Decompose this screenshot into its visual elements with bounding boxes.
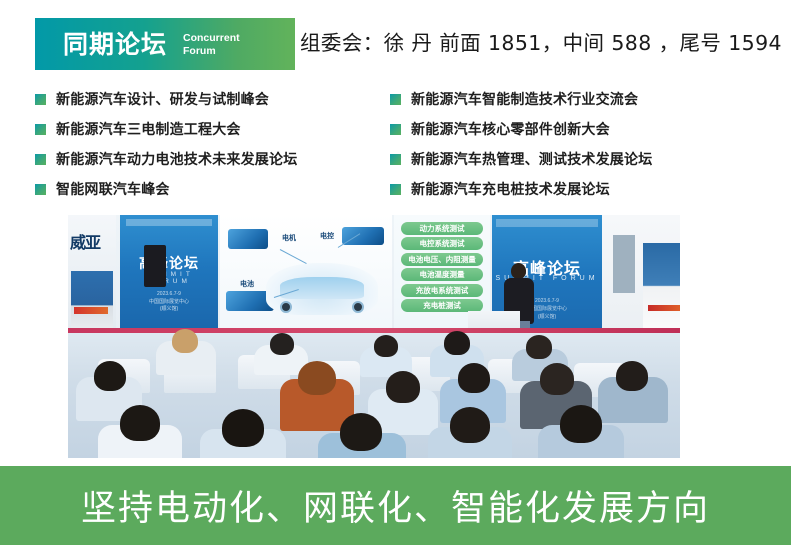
forum-label: 新能源汽车充电桩技术发展论坛 bbox=[411, 179, 610, 199]
controller-part-icon bbox=[342, 227, 384, 245]
diagram-label-battery: 电池 bbox=[240, 279, 254, 289]
badge-title-cn: 同期论坛 bbox=[63, 32, 167, 57]
wheel-icon bbox=[352, 301, 364, 313]
slogan-banner: 坚持电动化、网联化、智能化发展方向 bbox=[0, 466, 791, 545]
list-item: 新能源汽车动力电池技术未来发展论坛 bbox=[35, 144, 385, 174]
attendee-head bbox=[94, 361, 126, 391]
forum-label: 智能网联汽车峰会 bbox=[56, 179, 170, 199]
attendee-head bbox=[386, 371, 420, 403]
list-item: 新能源汽车核心零部件创新大会 bbox=[390, 114, 750, 144]
test-item-pill: 动力系统测试 bbox=[401, 222, 483, 235]
banner-top-strip bbox=[496, 219, 598, 227]
conference-photo: 威亚 高峰论坛 SUMMIT FORUM 2023.6.7-9 中国国际展览中心… bbox=[68, 215, 680, 458]
square-bullet-icon bbox=[390, 154, 401, 165]
attendee-head bbox=[444, 331, 470, 355]
test-item-pill: 电池电压、内阻测量 bbox=[401, 253, 483, 266]
photo-door bbox=[613, 235, 635, 293]
photo-banner-left: 高峰论坛 SUMMIT FORUM 2023.6.7-9 中国国际展览中心 (顺… bbox=[120, 215, 218, 333]
forum-label: 新能源汽车核心零部件创新大会 bbox=[411, 119, 610, 139]
leader-line bbox=[280, 249, 307, 264]
motor-part-icon bbox=[228, 229, 268, 249]
list-item: 新能源汽车充电桩技术发展论坛 bbox=[390, 174, 750, 204]
square-bullet-icon bbox=[35, 94, 46, 105]
diagram-label-motor: 电机 bbox=[282, 233, 296, 243]
photo-ev-diagram-board: 电机 电控 电池 bbox=[220, 215, 392, 333]
photo-speaker-cabinet bbox=[144, 245, 166, 287]
list-item: 新能源汽车三电制造工程大会 bbox=[35, 114, 385, 144]
attendee-head bbox=[450, 407, 490, 443]
list-item: 新能源汽车设计、研发与试制峰会 bbox=[35, 84, 385, 114]
attendee-head bbox=[526, 335, 552, 359]
attendee-head bbox=[298, 361, 336, 395]
attendee-head bbox=[616, 361, 648, 391]
ev-car-illustration bbox=[266, 263, 378, 315]
forum-label: 新能源汽车热管理、测试技术发展论坛 bbox=[411, 149, 652, 169]
slide-root: 同期论坛 Concurrent Forum 组委会：徐 丹 前面 1851，中间… bbox=[0, 0, 791, 545]
concurrent-forum-badge: 同期论坛 Concurrent Forum bbox=[35, 18, 295, 70]
banner-top-strip bbox=[126, 219, 212, 226]
committee-contact-note: 组委会：徐 丹 前面 1851，中间 588 ，尾号 1594 bbox=[300, 26, 782, 56]
attendee-head bbox=[340, 413, 382, 451]
forum-label: 新能源汽车动力电池技术未来发展论坛 bbox=[56, 149, 297, 169]
badge-title-en: Concurrent Forum bbox=[183, 32, 240, 58]
booth-poster-icon bbox=[71, 271, 113, 333]
test-item-pill: 电池温度测量 bbox=[401, 268, 483, 281]
square-bullet-icon bbox=[35, 124, 46, 135]
attendee-head bbox=[540, 363, 574, 395]
square-bullet-icon bbox=[35, 154, 46, 165]
attendee-head bbox=[120, 405, 160, 441]
wheel-icon bbox=[280, 301, 292, 313]
test-item-pill: 电控系统测试 bbox=[401, 237, 483, 250]
attendee-head bbox=[222, 409, 264, 447]
attendee-head bbox=[270, 333, 294, 355]
banner-left-title: 高峰论坛 bbox=[120, 253, 218, 273]
list-item: 新能源汽车热管理、测试技术发展论坛 bbox=[390, 144, 750, 174]
square-bullet-icon bbox=[390, 184, 401, 195]
forum-column-left: 新能源汽车设计、研发与试制峰会 新能源汽车三电制造工程大会 新能源汽车动力电池技… bbox=[35, 84, 385, 204]
banner-left-subtitle: SUMMIT FORUM bbox=[120, 271, 218, 285]
forum-column-right: 新能源汽车智能制造技术行业交流会 新能源汽车核心零部件创新大会 新能源汽车热管理… bbox=[390, 84, 750, 204]
slogan-text: 坚持电动化、网联化、智能化发展方向 bbox=[81, 480, 710, 531]
photo-booth-wall-left: 威亚 bbox=[68, 215, 116, 333]
list-item: 智能网联汽车峰会 bbox=[35, 174, 385, 204]
attendee-head bbox=[374, 335, 398, 357]
attendee-head bbox=[458, 363, 490, 393]
square-bullet-icon bbox=[35, 184, 46, 195]
forum-list-section: 新能源汽车设计、研发与试制峰会 新能源汽车三电制造工程大会 新能源汽车动力电池技… bbox=[0, 84, 791, 204]
person-head-icon bbox=[511, 263, 526, 279]
slide-header: 同期论坛 Concurrent Forum 组委会：徐 丹 前面 1851，中间… bbox=[0, 0, 791, 80]
attendee-head bbox=[560, 405, 602, 443]
diagram-label-controller: 电控 bbox=[320, 231, 334, 241]
banner-left-details: 2023.6.7-9 中国国际展览中心 (顺义馆) bbox=[120, 291, 218, 314]
forum-label: 新能源汽车三电制造工程大会 bbox=[56, 119, 241, 139]
square-bullet-icon bbox=[390, 124, 401, 135]
forum-label: 新能源汽车智能制造技术行业交流会 bbox=[411, 89, 638, 109]
photo-audience bbox=[68, 333, 680, 458]
list-item: 新能源汽车智能制造技术行业交流会 bbox=[390, 84, 750, 114]
forum-label: 新能源汽车设计、研发与试制峰会 bbox=[56, 89, 269, 109]
attendee-head bbox=[172, 329, 198, 353]
test-item-pill: 充放电系统测试 bbox=[401, 284, 483, 297]
booth-sign-text: 威亚 bbox=[70, 229, 100, 253]
square-bullet-icon bbox=[390, 94, 401, 105]
